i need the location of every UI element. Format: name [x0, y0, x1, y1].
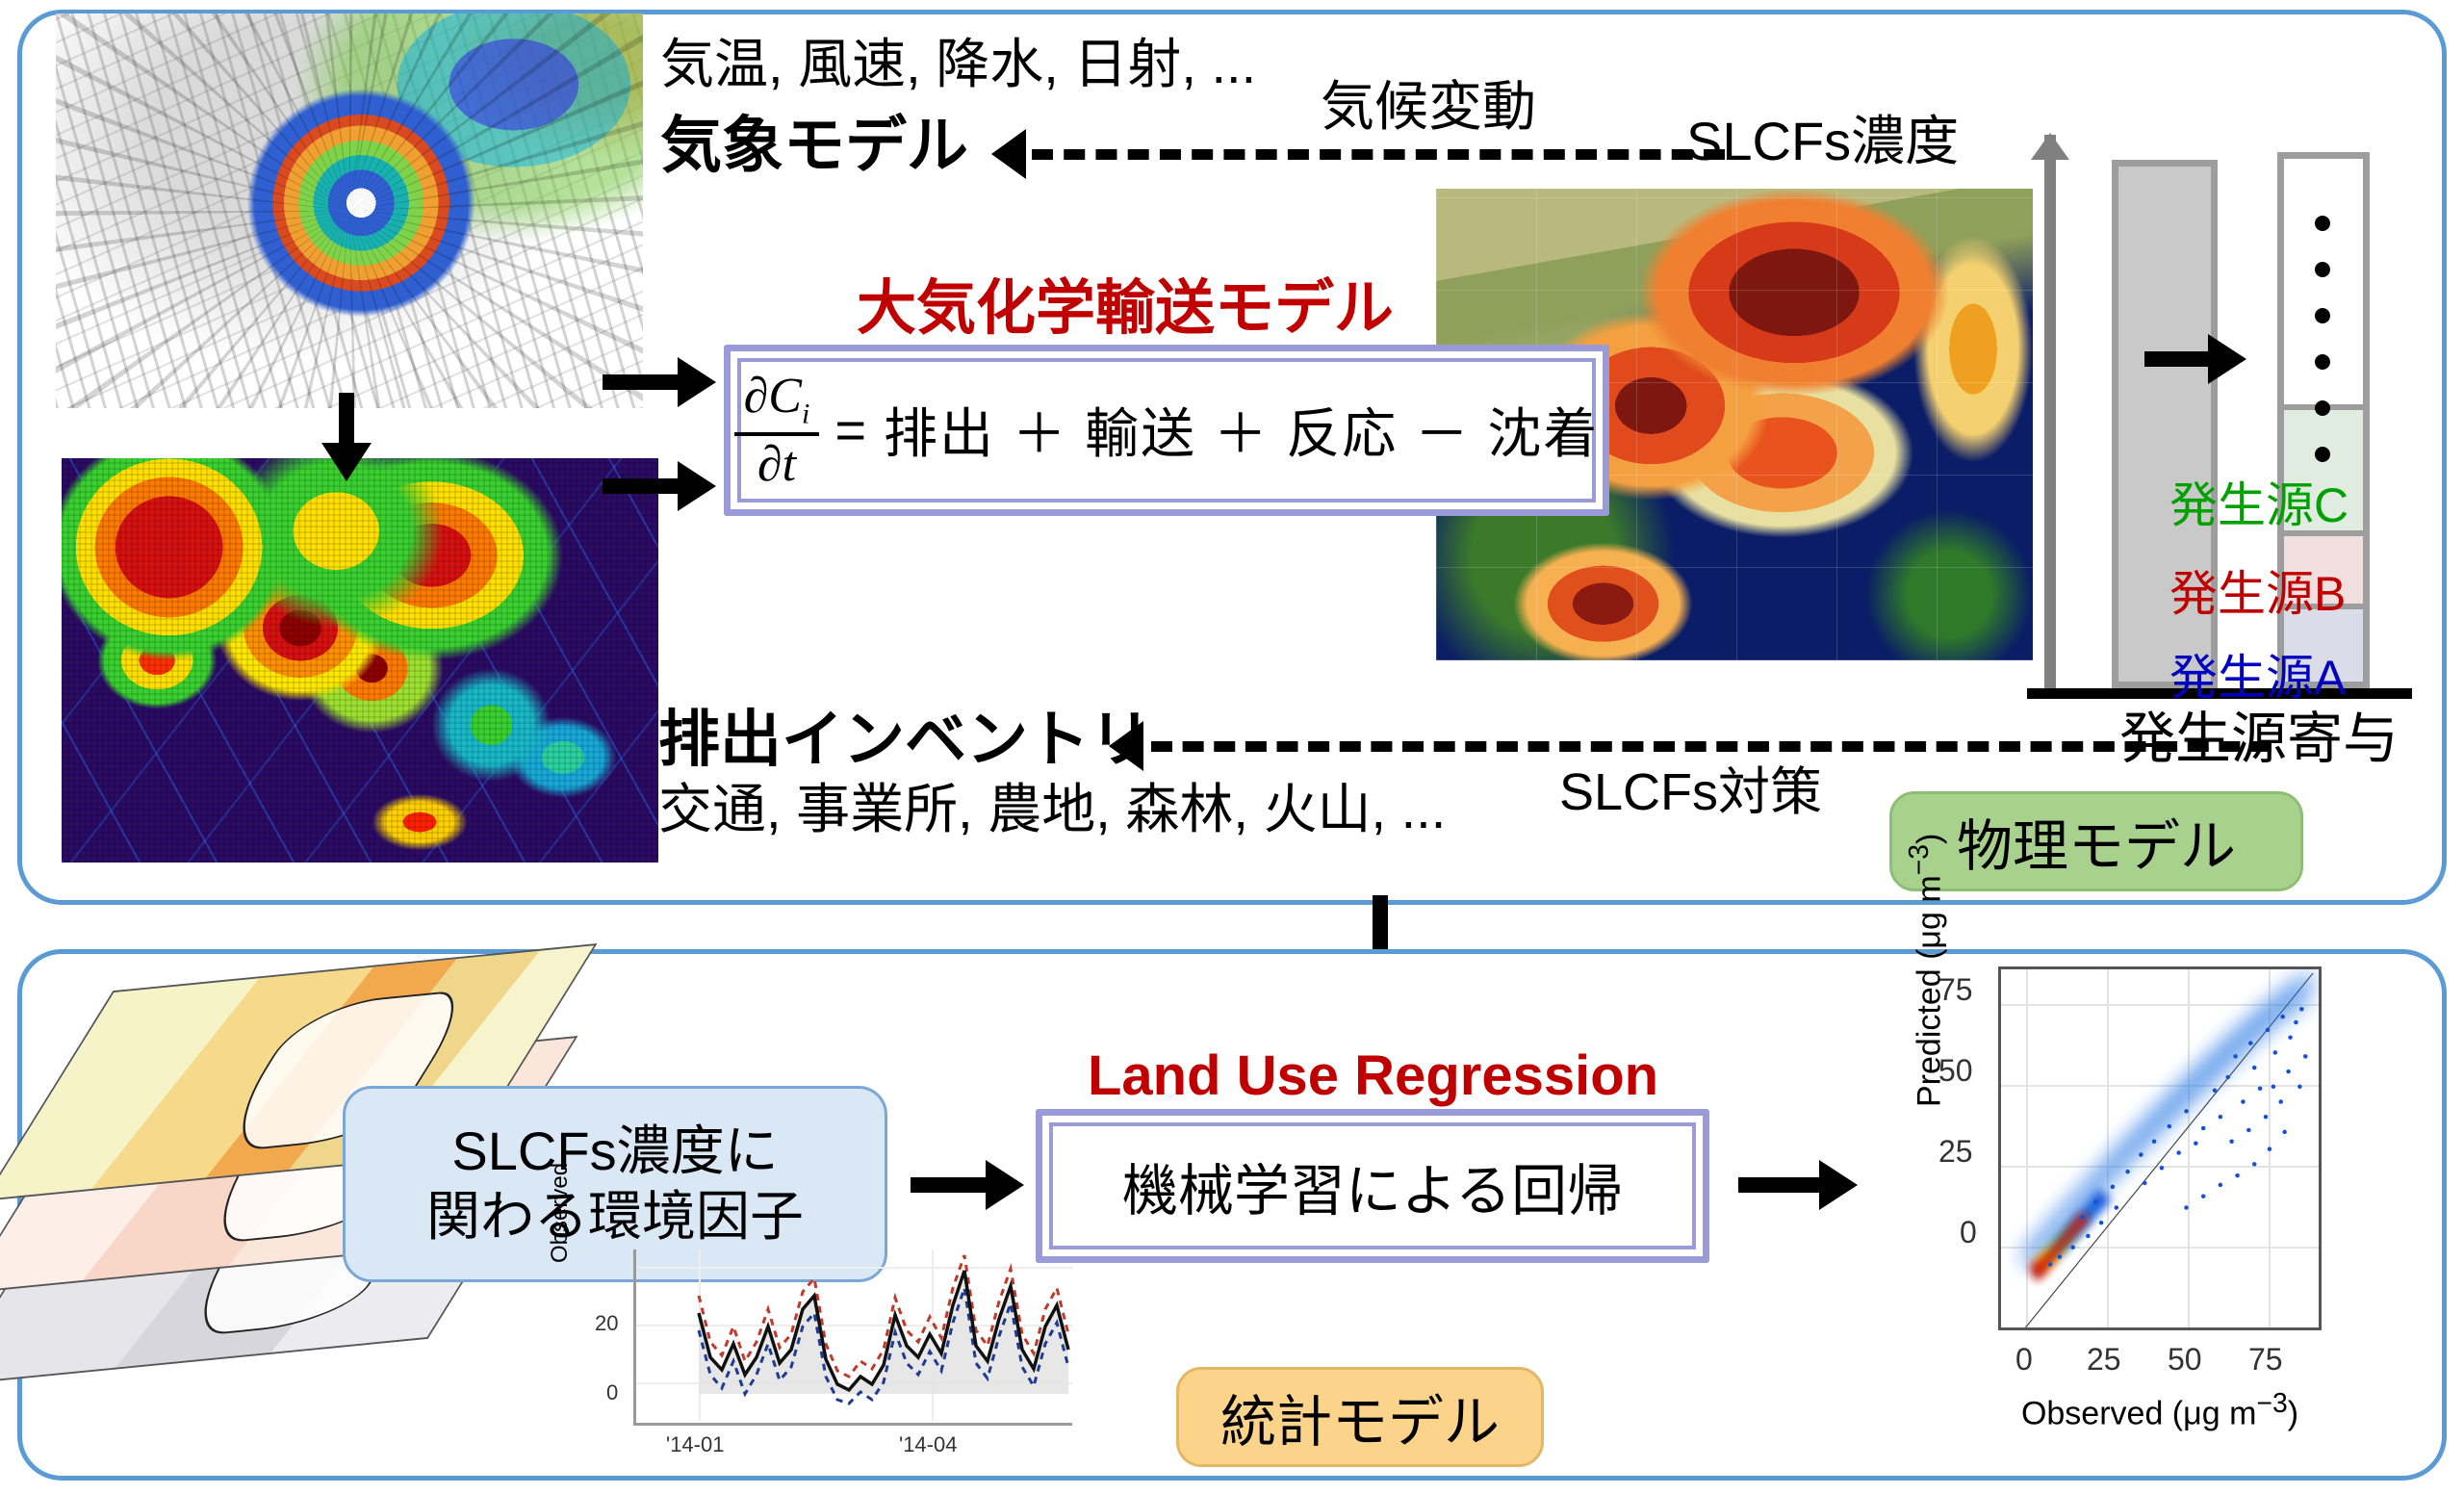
- timeseries-xtick-1: '14-01: [666, 1432, 724, 1457]
- equation-denominator: ∂t: [748, 439, 806, 490]
- source-label-c: 発生源C: [2169, 467, 2348, 536]
- scatter-xtick-25: 25: [2087, 1342, 2121, 1378]
- scatter-ytick-75: 75: [1938, 972, 1973, 1008]
- slcfs-concentration-label: SLCFs濃度: [1686, 114, 1959, 170]
- scatter-density-cloud: [2001, 969, 2319, 1327]
- timeseries-curves: [633, 1249, 1072, 1421]
- equation-numerator: ∂Ci: [734, 371, 820, 429]
- timeseries-plot-area: [633, 1249, 1072, 1421]
- scatter-ytick-25: 25: [1938, 1134, 1973, 1170]
- scatter-ytick-0: 0: [1960, 1215, 1977, 1250]
- climate-feedback-arrowhead: [991, 129, 1026, 179]
- statistical-model-badge: 統計モデル: [1176, 1367, 1544, 1467]
- equation-equals: =: [834, 399, 868, 461]
- partial-derivative-fraction: ∂Ci ∂t: [734, 371, 820, 490]
- climate-feedback-dashed-line: [1032, 149, 1725, 160]
- weather-to-emission-arrow: [318, 393, 375, 481]
- climate-change-label: 気候変動: [1321, 79, 1536, 136]
- ctm-equation-box: ∂Ci ∂t = 排出 ＋ 輸送 ＋ 反応 － 沈着: [724, 345, 1609, 516]
- ctm-equation: ∂Ci ∂t = 排出 ＋ 輸送 ＋ 反応 － 沈着: [734, 371, 1600, 490]
- timeseries-x-axis: [633, 1423, 1072, 1426]
- machine-learning-box: 機械学習による回帰: [1036, 1109, 1709, 1263]
- contribution-y-axis: [2044, 135, 2056, 695]
- timeseries-ytick-0: 0: [606, 1380, 618, 1405]
- lur-title: Land Use Regression: [1088, 1047, 1658, 1106]
- statistical-model-badge-label: 統計モデル: [1220, 1377, 1500, 1457]
- source-contribution-chart: [2027, 135, 2441, 722]
- weather-inputs-label: 気温, 風速, 降水, 日射, ...: [660, 37, 1256, 93]
- scatter-x-label: Observed (μg m−3): [1998, 1388, 2322, 1432]
- emission-sources-label: 交通, 事業所, 農地, 森林, 火山, ...: [658, 782, 1446, 838]
- equation-right-hand-side: 排出 ＋ 輸送 ＋ 反応 － 沈着: [884, 391, 1599, 469]
- predicted-vs-observed-chart: Predicted (μg m−3) Observed (μg m−3) 75 …: [1915, 953, 2397, 1434]
- observed-timeseries-chart: Observed 20 0 '14-01 '14-04: [539, 1240, 1078, 1475]
- timeseries-xtick-2: '14-04: [899, 1432, 957, 1457]
- source-contribution-caption: 発生源寄与: [2119, 710, 2399, 769]
- timeseries-y-axis: [633, 1249, 636, 1426]
- timeseries-ytick-20: 20: [595, 1311, 618, 1336]
- slcfs-mitigation-dashed-line: [1151, 741, 2271, 752]
- physical-model-badge-label: 物理モデル: [1957, 801, 2236, 882]
- diagram-canvas: 気温, 風速, 降水, 日射, ... 気象モデル 大気化学輸送モデル ∂Ci …: [0, 0, 2464, 1494]
- vertical-ellipsis-dots: [2314, 216, 2331, 462]
- emission-inventory-map-image: [62, 458, 658, 863]
- scatter-xtick-75: 75: [2248, 1342, 2283, 1378]
- scatter-ytick-50: 50: [1938, 1053, 1973, 1089]
- source-label-b: 発生源B: [2169, 555, 2346, 625]
- scatter-xtick-0: 0: [2015, 1342, 2033, 1378]
- weather-model-title: 気象モデル: [660, 114, 968, 178]
- emission-inventory-title: 排出インベントリ: [658, 708, 1151, 772]
- machine-learning-label: 機械学習による回帰: [1122, 1146, 1623, 1226]
- scatter-xtick-50: 50: [2168, 1342, 2202, 1378]
- source-label-a: 発生源A: [2169, 639, 2346, 708]
- factors-to-lur-arrow: [911, 1159, 1024, 1211]
- typhoon-wind-field-image: [56, 13, 643, 408]
- slcfs-mitigation-label: SLCFs対策: [1559, 765, 1822, 820]
- physical-model-badge: 物理モデル: [1889, 791, 2303, 891]
- lur-to-scatter-arrow: [1738, 1159, 1858, 1211]
- environmental-factors-line1: SLCFs濃度に: [451, 1119, 778, 1184]
- scatter-plot-area: [1998, 966, 2322, 1330]
- map-to-contribution-arrow: [2144, 335, 2246, 383]
- ctm-title: 大気化学輸送モデル: [857, 277, 1394, 340]
- weather-to-ctm-arrow: [603, 356, 716, 408]
- emission-to-ctm-arrow: [603, 460, 716, 512]
- timeseries-y-label: Observed: [547, 1163, 574, 1263]
